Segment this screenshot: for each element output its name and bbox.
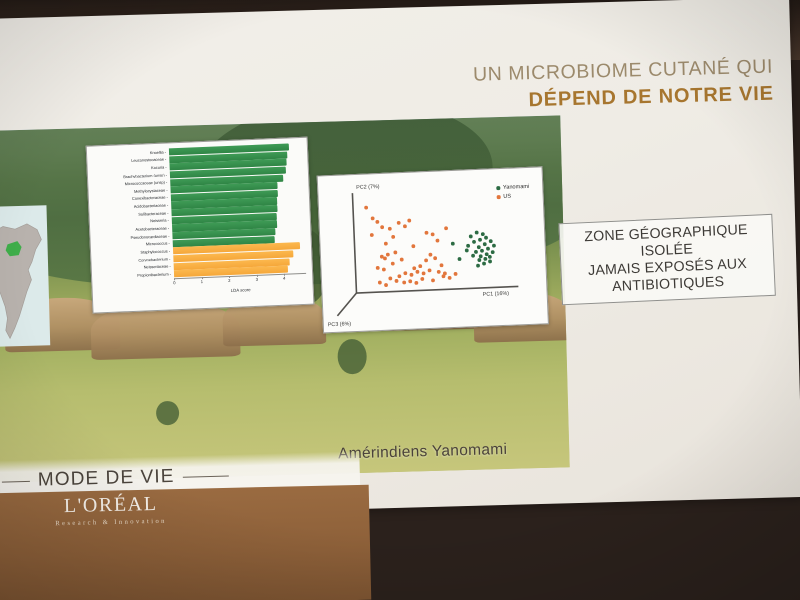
map-graphic <box>0 205 50 347</box>
info-line-4: ANTIBIOTIQUES <box>612 274 725 296</box>
pcoa-point <box>415 270 419 274</box>
pcoa-point <box>491 250 495 254</box>
section-title: MODE DE VIE <box>38 466 175 492</box>
pcoa-point <box>435 239 439 243</box>
brand-name: L'ORÉAL <box>55 493 167 519</box>
rule-right <box>183 475 229 477</box>
lda-axis-tick: 2 <box>228 278 231 283</box>
pcoa-point <box>454 272 458 276</box>
pcoa-point <box>483 257 487 261</box>
presentation-photo: UN MICROBIOME CUTANÉ QUI DÉPEND DE NOTRE… <box>0 0 800 600</box>
pcoa-scatter-plot: PC2 (7%) PC1 (16%) PC3 (6%) Yanomami US <box>317 166 549 333</box>
pcoa-point <box>375 220 379 224</box>
pcoa-point <box>402 280 406 284</box>
pcoa-point <box>477 245 481 249</box>
pcoa-point <box>440 263 444 267</box>
pcoa-point <box>388 276 392 280</box>
pcoa-point <box>393 250 397 254</box>
pcoa-point <box>425 231 429 235</box>
pcoa-point <box>424 258 428 262</box>
lda-axis-tick: 1 <box>201 279 204 284</box>
pcoa-point <box>431 278 435 282</box>
pcoa-point <box>431 232 435 236</box>
lda-axis-tick: 4 <box>283 276 286 281</box>
pcoa-point <box>391 262 395 266</box>
pcoa-point <box>433 256 437 260</box>
pcoa-point <box>412 266 416 270</box>
pcoa-point <box>414 281 418 285</box>
pcoa-point <box>391 235 395 239</box>
pcoa-point <box>486 247 490 251</box>
pcoa-point <box>482 262 486 266</box>
pcoa-point <box>384 242 388 246</box>
pcoa-point <box>384 283 388 287</box>
slide-title: UN MICROBIOME CUTANÉ QUI DÉPEND DE NOTRE… <box>473 56 774 114</box>
pcoa-point <box>380 225 384 229</box>
pcoa-point <box>476 264 480 268</box>
svg-text:PC1 (16%): PC1 (16%) <box>483 291 510 298</box>
legend-label: Yanomami <box>503 184 530 191</box>
pcoa-point <box>400 258 404 262</box>
chair-silhouette <box>56 544 166 600</box>
lda-bar-chart: Knoellia -Leuconostocaceae -Kocuria -Bra… <box>86 137 315 314</box>
pcoa-point <box>397 274 401 278</box>
pcoa-point <box>403 271 407 275</box>
pcoa-point <box>420 277 424 281</box>
loreal-logo: L'ORÉAL Research & Innovation <box>55 493 167 528</box>
pcoa-point <box>411 244 415 248</box>
lda-taxon-label: Propionibacterium - <box>96 272 174 279</box>
legend-swatch-icon <box>497 195 501 199</box>
pcoa-point <box>376 266 380 270</box>
south-america-map-inset <box>0 205 50 347</box>
pcoa-point <box>480 249 484 253</box>
pcoa-point <box>428 268 432 272</box>
pcoa-point <box>492 244 496 248</box>
chair-silhouette <box>418 546 530 600</box>
projection-screen: UN MICROBIOME CUTANÉ QUI DÉPEND DE NOTRE… <box>0 0 800 519</box>
pcoa-point <box>403 224 407 228</box>
pcoa-point <box>382 268 386 272</box>
pcoa-point <box>485 252 489 256</box>
legend-label: US <box>503 194 511 200</box>
pcoa-point <box>483 242 487 246</box>
legend-item-yanomami: Yanomami <box>496 184 529 191</box>
pcoa-point <box>477 258 481 262</box>
pcoa-point <box>410 273 414 277</box>
pcoa-point <box>481 232 485 236</box>
lda-bar-rows: Knoellia -Leuconostocaceae -Kocuria -Bra… <box>91 143 306 281</box>
pcoa-point <box>469 234 473 238</box>
svg-text:PC3 (6%): PC3 (6%) <box>328 321 352 328</box>
pcoa-point <box>488 259 492 263</box>
pcoa-point <box>465 248 469 252</box>
pcoa-point <box>407 219 411 223</box>
pcoa-point <box>428 253 432 257</box>
legend-item-us: US <box>497 193 530 200</box>
pcoa-point <box>488 255 492 259</box>
pcoa-point <box>475 231 479 235</box>
pcoa-point <box>472 240 476 244</box>
pcoa-point <box>478 238 482 242</box>
pcoa-point <box>489 239 493 243</box>
lda-axis-tick: 0 <box>173 281 176 286</box>
svg-text:PC2 (7%): PC2 (7%) <box>356 184 380 191</box>
legend-swatch-icon <box>497 186 501 190</box>
pcoa-point <box>364 206 368 210</box>
lda-axis-tick: 3 <box>256 277 259 282</box>
info-callout-box: ZONE GÉOGRAPHIQUE ISOLÉE JAMAIS EXPOSÉS … <box>558 214 775 305</box>
pcoa-point <box>395 279 399 283</box>
pcoa-point <box>448 276 452 280</box>
pcoa-point <box>484 236 488 240</box>
pcoa-point <box>378 281 382 285</box>
pcoa-point <box>388 227 392 231</box>
pcoa-point <box>386 253 390 257</box>
pcoa-point <box>444 226 448 230</box>
pcoa-point <box>418 264 422 268</box>
pcoa-point <box>451 242 455 246</box>
pcoa-point <box>458 257 462 261</box>
pcoa-point <box>471 254 475 258</box>
pcoa-point <box>437 270 441 274</box>
pcoa-point <box>370 233 374 237</box>
pcoa-point <box>474 250 478 254</box>
pcoa-point <box>408 279 412 283</box>
pcoa-point <box>466 244 470 248</box>
pcoa-point <box>422 271 426 275</box>
pcoa-point <box>397 221 401 225</box>
pcoa-legend: Yanomami US <box>496 184 529 203</box>
pcoa-point <box>479 254 483 258</box>
rule-left <box>2 480 30 482</box>
pcoa-point <box>371 216 375 220</box>
